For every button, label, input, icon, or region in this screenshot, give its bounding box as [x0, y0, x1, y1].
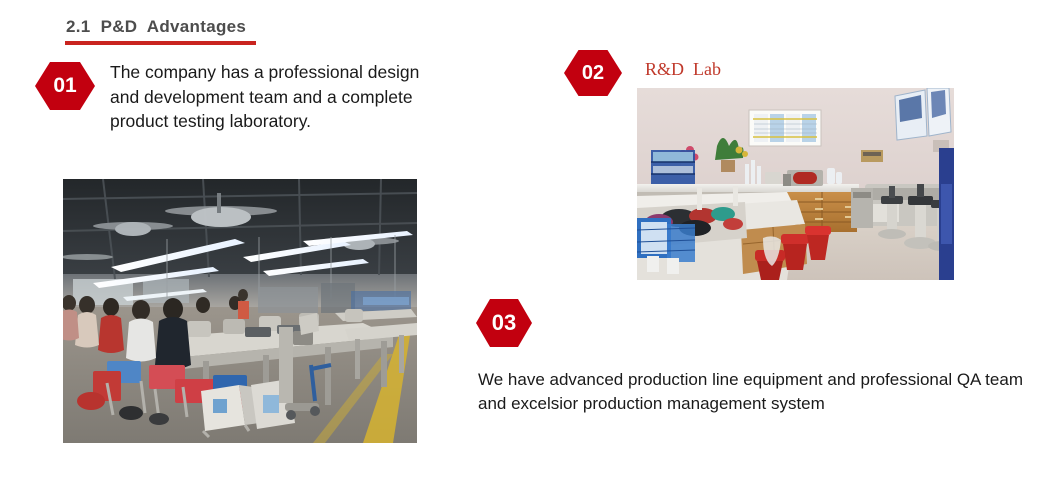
step-badge-03: 03	[476, 299, 532, 347]
heading-underline-rule	[65, 41, 256, 45]
page-title: 2.1 P&D Advantages	[66, 17, 246, 37]
block-01-description: The company has a professional design an…	[110, 60, 430, 134]
factory-sewing-floor-photo	[63, 179, 417, 443]
step-badge-01: 01	[35, 62, 95, 110]
factory-photo-artwork	[63, 179, 417, 443]
step-badge-02: 02	[564, 50, 622, 96]
block-03-description: We have advanced production line equipme…	[478, 368, 1023, 416]
rd-lab-label: R&D Lab	[645, 59, 721, 80]
rd-lab-photo-artwork	[637, 88, 954, 280]
rd-lab-photo	[637, 88, 954, 280]
